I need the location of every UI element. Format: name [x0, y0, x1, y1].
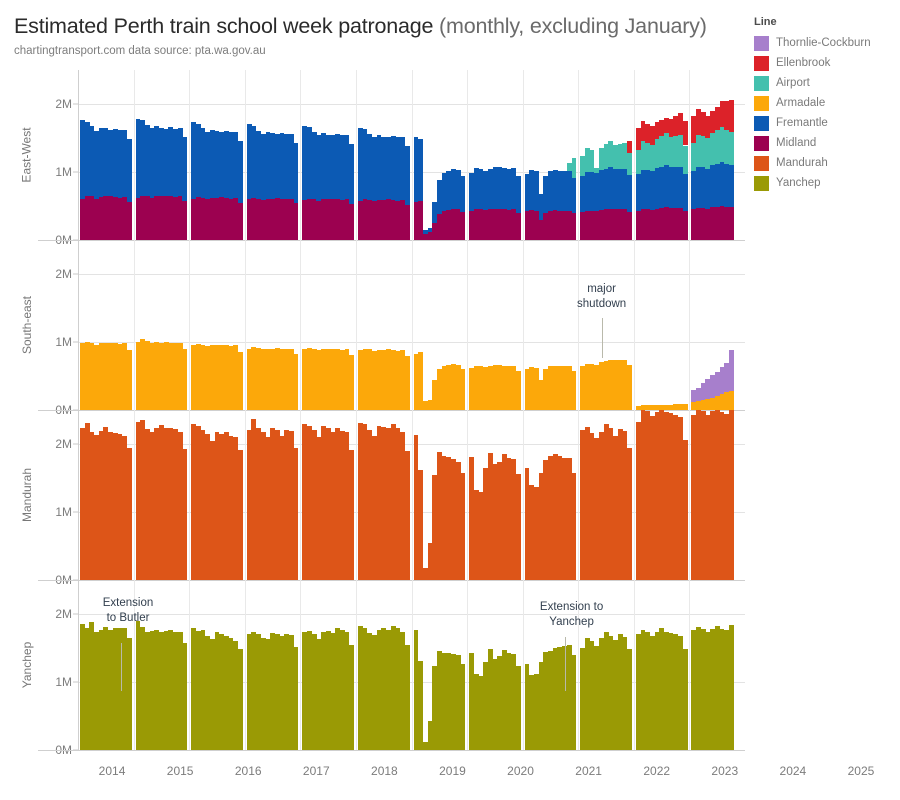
- gridline-vertical: [245, 410, 246, 580]
- bar[interactable]: [127, 139, 132, 240]
- bar[interactable]: [294, 448, 299, 580]
- legend-item-label: Armadale: [776, 97, 825, 109]
- bar-segment-midland: [182, 201, 187, 240]
- legend-swatch-icon: [754, 56, 769, 71]
- bar-segment-yanchep: [729, 625, 734, 750]
- bar[interactable]: [238, 352, 243, 410]
- chart-root: Estimated Perth train school week patron…: [0, 0, 900, 800]
- gridline-vertical: [189, 240, 190, 410]
- bar-segment-mandurah: [729, 410, 734, 580]
- y-axis-tick-label: 1M: [55, 165, 72, 179]
- y-axis-tick-label: 2M: [55, 97, 72, 111]
- gridline-vertical: [300, 70, 301, 240]
- bar-segment-yanchep: [627, 649, 632, 750]
- annotation-leader-line: [121, 643, 122, 691]
- annotation-line: shutdown: [577, 297, 626, 312]
- bar[interactable]: [238, 450, 243, 580]
- bar-segment-yanchep: [418, 661, 423, 750]
- gridline-vertical: [467, 410, 468, 580]
- legend-item-label: Yanchep: [776, 177, 821, 189]
- bar-segment-mandurah: [627, 448, 632, 580]
- facet-label: Mandurah: [16, 410, 38, 580]
- legend-item-label: Ellenbrook: [776, 57, 830, 69]
- bar[interactable]: [294, 647, 299, 750]
- bar-segment-armadale: [627, 365, 632, 410]
- x-axis-tick-label: 2014: [99, 764, 126, 778]
- axis-baseline: [38, 750, 745, 751]
- bar[interactable]: [405, 451, 410, 580]
- bar-segment-mandurah: [238, 450, 243, 580]
- facet-panel-south-east: South-east0M1M2M: [0, 240, 750, 410]
- bar[interactable]: [294, 354, 299, 410]
- bar[interactable]: [418, 470, 423, 580]
- bar-segment-ellenbrook: [729, 100, 734, 132]
- y-axis-tick-label: 2M: [55, 437, 72, 451]
- gridline-vertical: [467, 240, 468, 410]
- facet-label: East-West: [16, 70, 38, 240]
- bar[interactable]: [418, 139, 423, 240]
- bar-segment-armadale: [516, 371, 521, 410]
- bar[interactable]: [683, 121, 688, 240]
- annotation-leader-line: [565, 637, 566, 691]
- gridline-vertical: [689, 410, 690, 580]
- bar[interactable]: [627, 365, 632, 410]
- bar[interactable]: [516, 176, 521, 240]
- legend-item[interactable]: Thornlie-Cockburn: [754, 33, 900, 53]
- bar[interactable]: [127, 448, 132, 580]
- bar[interactable]: [349, 144, 354, 240]
- chart-title: Estimated Perth train school week patron…: [14, 14, 744, 39]
- gridline-vertical: [412, 240, 413, 410]
- gridline-vertical: [634, 410, 635, 580]
- bar-segment-yanchep: [127, 638, 132, 750]
- bar[interactable]: [683, 649, 688, 750]
- bar[interactable]: [729, 350, 734, 410]
- legend-item[interactable]: Mandurah: [754, 153, 900, 173]
- bar[interactable]: [460, 176, 465, 240]
- x-axis-tick-label: 2015: [167, 764, 194, 778]
- bar[interactable]: [460, 369, 465, 410]
- plot-area: [78, 240, 745, 410]
- x-axis-tick-label: 2023: [711, 764, 738, 778]
- gridline-vertical: [356, 580, 357, 750]
- bar[interactable]: [418, 661, 423, 750]
- gridline-vertical: [412, 410, 413, 580]
- bar-segment-mandurah: [683, 440, 688, 580]
- gridline-vertical: [523, 70, 524, 240]
- facet-panel-mandurah: Mandurah0M1M2M: [0, 410, 750, 580]
- bar[interactable]: [405, 146, 410, 240]
- bar[interactable]: [405, 356, 410, 410]
- legend: Line Thornlie-CockburnEllenbrookAirportA…: [754, 16, 900, 193]
- gridline-vertical: [523, 410, 524, 580]
- bar-segment-armadale: [460, 369, 465, 410]
- bar[interactable]: [729, 410, 734, 580]
- bar[interactable]: [182, 643, 187, 750]
- annotation-line: to Butler: [103, 611, 154, 626]
- x-axis-tick-label: 2016: [235, 764, 262, 778]
- gridline-vertical: [300, 410, 301, 580]
- bar[interactable]: [516, 474, 521, 580]
- bar-segment-midland: [683, 211, 688, 240]
- bar-segment-mandurah: [349, 450, 354, 580]
- facet-label-text: Mandurah: [20, 468, 34, 522]
- x-axis: 2014201520162017201820192020202120222023…: [78, 760, 895, 790]
- bar-segment-mandurah: [460, 473, 465, 580]
- bar-segment-ellenbrook: [627, 141, 632, 153]
- facet-label-text: South-east: [20, 296, 34, 354]
- bar-segment-yanchep: [460, 664, 465, 750]
- bar-segment-armadale: [182, 349, 187, 410]
- bar[interactable]: [238, 649, 243, 750]
- bar-segment-thornlie-cockburn: [729, 350, 734, 391]
- gridline-vertical: [134, 240, 135, 410]
- gridline-vertical: [523, 240, 524, 410]
- bar-segment-armadale: [572, 371, 577, 410]
- x-axis-tick-label: 2021: [575, 764, 602, 778]
- bar[interactable]: [405, 645, 410, 750]
- legend-swatch-icon: [754, 116, 769, 131]
- bar-segment-airport: [683, 146, 688, 175]
- bar-segment-midland: [238, 203, 243, 240]
- axis-left-spine: [78, 70, 79, 240]
- gridline-vertical: [134, 70, 135, 240]
- legend-item[interactable]: Fremantle: [754, 113, 900, 133]
- chart-title-parenthetical: (monthly, excluding January): [439, 14, 707, 38]
- bar[interactable]: [182, 137, 187, 240]
- gridline-vertical: [467, 580, 468, 750]
- legend-swatch-icon: [754, 176, 769, 191]
- bar-segment-fremantle: [460, 176, 465, 212]
- gridline-vertical: [634, 580, 635, 750]
- bar[interactable]: [182, 449, 187, 580]
- legend-item-label: Mandurah: [776, 157, 828, 169]
- bar-segment-mandurah: [418, 470, 423, 580]
- annotation-major-shutdown: majorshutdown: [577, 282, 626, 312]
- gridline-vertical: [689, 70, 690, 240]
- annotation-line: Extension to: [540, 600, 603, 615]
- bar-segment-mandurah: [405, 451, 410, 580]
- x-axis-tick-label: 2018: [371, 764, 398, 778]
- plot-area: [78, 410, 745, 580]
- x-axis-tick-label: 2022: [643, 764, 670, 778]
- legend-swatch-icon: [754, 36, 769, 51]
- bar-segment-fremantle: [683, 174, 688, 211]
- bar-segment-midland: [405, 205, 410, 240]
- facet-panels: East-West0M1M2MSouth-east0M1M2MMandurah0…: [0, 70, 750, 750]
- legend-swatch-icon: [754, 96, 769, 111]
- bar-segment-yanchep: [349, 645, 354, 750]
- bar-segment-armadale: [127, 350, 132, 410]
- bar[interactable]: [516, 666, 521, 750]
- bar[interactable]: [294, 143, 299, 240]
- gridline-vertical: [134, 410, 135, 580]
- bar[interactable]: [729, 100, 734, 240]
- chart-header: Estimated Perth train school week patron…: [14, 14, 744, 57]
- annotation-leader-line: [602, 318, 603, 358]
- bar-segment-midland: [294, 203, 299, 240]
- annotation-line: major: [577, 282, 626, 297]
- bar-segment-armadale: [294, 354, 299, 410]
- gridline-vertical: [300, 580, 301, 750]
- plot-area: [78, 70, 745, 240]
- gridline-vertical: [578, 410, 579, 580]
- legend-title: Line: [754, 16, 900, 28]
- gridline-vertical: [412, 70, 413, 240]
- axis-left-spine: [78, 240, 79, 410]
- x-axis-tick-label: 2025: [848, 764, 875, 778]
- legend-swatch-icon: [754, 136, 769, 151]
- x-axis-tick-label: 2019: [439, 764, 466, 778]
- gridline-vertical: [467, 70, 468, 240]
- bar[interactable]: [460, 664, 465, 750]
- bar[interactable]: [572, 473, 577, 580]
- bar-segment-midland: [627, 212, 632, 240]
- chart-title-main: Estimated Perth train school week patron…: [14, 14, 433, 38]
- facet-label-text: Yanchep: [20, 642, 34, 688]
- bar-segment-fremantle: [238, 141, 243, 203]
- bar-segment-yanchep: [516, 666, 521, 750]
- bar-segment-armadale: [349, 355, 354, 410]
- legend-item[interactable]: Yanchep: [754, 173, 900, 193]
- bar[interactable]: [572, 158, 577, 240]
- annotation-extension-to-yanchep: Extension toYanchep: [540, 600, 603, 630]
- bar[interactable]: [349, 645, 354, 750]
- gridline-vertical: [189, 70, 190, 240]
- facet-label: South-east: [16, 240, 38, 410]
- gridline-vertical: [245, 240, 246, 410]
- bar-segment-fremantle: [627, 175, 632, 212]
- gridline-vertical: [245, 580, 246, 750]
- bar[interactable]: [683, 440, 688, 580]
- facet-panel-east-west: East-West0M1M2M: [0, 70, 750, 240]
- bar-segment-mandurah: [294, 448, 299, 580]
- bar-segment-mandurah: [516, 474, 521, 580]
- x-axis-tick-label: 2017: [303, 764, 330, 778]
- y-axis: 0M1M2M: [38, 580, 78, 750]
- bar-segment-yanchep: [238, 649, 243, 750]
- annotation-line: Extension: [103, 596, 154, 611]
- gridline-vertical: [578, 240, 579, 410]
- legend-item[interactable]: Armadale: [754, 93, 900, 113]
- bar-segment-ellenbrook: [683, 121, 688, 145]
- legend-item-label: Fremantle: [776, 117, 828, 129]
- bar[interactable]: [460, 473, 465, 580]
- bar[interactable]: [729, 625, 734, 750]
- bar[interactable]: [349, 355, 354, 410]
- plot-area: [78, 580, 745, 750]
- bar-segment-midland: [572, 213, 577, 240]
- gridline-vertical: [189, 410, 190, 580]
- bar-segment-yanchep: [182, 643, 187, 750]
- gridline-vertical: [189, 580, 190, 750]
- facet-label: Yanchep: [16, 580, 38, 750]
- x-axis-tick-label: 2024: [780, 764, 807, 778]
- bar-segment-midland: [349, 204, 354, 240]
- y-axis-tick-label: 1M: [55, 335, 72, 349]
- bar-segment-armadale: [729, 391, 734, 410]
- y-axis-tick-label: 1M: [55, 505, 72, 519]
- bar-segment-midland: [516, 213, 521, 240]
- bar[interactable]: [182, 349, 187, 410]
- legend-item-label: Thornlie-Cockburn: [776, 37, 871, 49]
- gridline-vertical: [689, 580, 690, 750]
- y-axis-tick-label: 2M: [55, 267, 72, 281]
- legend-item[interactable]: Midland: [754, 133, 900, 153]
- bar[interactable]: [127, 638, 132, 750]
- bar[interactable]: [627, 649, 632, 750]
- bar-segment-armadale: [238, 352, 243, 410]
- bar-segment-fremantle: [349, 144, 354, 204]
- bar[interactable]: [627, 448, 632, 580]
- bar-segment-airport: [729, 132, 734, 165]
- bar-segment-yanchep: [405, 645, 410, 750]
- bar[interactable]: [572, 655, 577, 750]
- legend-item[interactable]: Ellenbrook: [754, 53, 900, 73]
- y-axis-tick-label: 2M: [55, 607, 72, 621]
- gridline-vertical: [523, 580, 524, 750]
- bar[interactable]: [349, 450, 354, 580]
- bar-segment-yanchep: [683, 649, 688, 750]
- bar-segment-fremantle: [418, 139, 423, 201]
- legend-item[interactable]: Airport: [754, 73, 900, 93]
- legend-swatch-icon: [754, 76, 769, 91]
- legend-swatch-icon: [754, 156, 769, 171]
- axis-left-spine: [78, 410, 79, 580]
- bar[interactable]: [238, 141, 243, 240]
- legend-item-label: Midland: [776, 137, 816, 149]
- gridline-vertical: [245, 70, 246, 240]
- y-axis-tick-label: 1M: [55, 675, 72, 689]
- gridline-vertical: [412, 580, 413, 750]
- annotation-line: Yanchep: [540, 615, 603, 630]
- legend-item-label: Airport: [776, 77, 810, 89]
- gridline-vertical: [578, 70, 579, 240]
- bar-segment-airport: [572, 158, 577, 178]
- bar-segment-mandurah: [572, 473, 577, 580]
- bar-segment-fremantle: [729, 165, 734, 207]
- legend-items: Thornlie-CockburnEllenbrookAirportArmada…: [754, 33, 900, 193]
- bar-segment-fremantle: [516, 176, 521, 213]
- bar[interactable]: [127, 350, 132, 410]
- bar-segment-fremantle: [182, 137, 187, 201]
- bar-segment-mandurah: [182, 449, 187, 580]
- facet-label-text: East-West: [20, 127, 34, 182]
- bar-segment-mandurah: [127, 448, 132, 580]
- bar[interactable]: [516, 371, 521, 410]
- bar-segment-midland: [127, 202, 132, 240]
- bar-segment-yanchep: [294, 647, 299, 750]
- bar-segment-fremantle: [127, 139, 132, 202]
- chart-subtitle: chartingtransport.com data source: pta.w…: [14, 45, 744, 57]
- bar-segment-airport: [627, 153, 632, 175]
- bar-segment-midland: [460, 212, 465, 240]
- bar-segment-yanchep: [572, 655, 577, 750]
- gridline-vertical: [634, 240, 635, 410]
- annotation-extension-to-butler: Extensionto Butler: [103, 596, 154, 626]
- gridline-vertical: [634, 70, 635, 240]
- bar-segment-midland: [729, 207, 734, 240]
- gridline-vertical: [356, 240, 357, 410]
- bar[interactable]: [627, 141, 632, 240]
- bar[interactable]: [572, 371, 577, 410]
- bar-segment-fremantle: [405, 146, 410, 204]
- gridline-vertical: [356, 70, 357, 240]
- x-axis-tick-label: 2020: [507, 764, 534, 778]
- y-axis: 0M1M2M: [38, 410, 78, 580]
- y-axis: 0M1M2M: [38, 70, 78, 240]
- bar-segment-armadale: [405, 356, 410, 410]
- bar-segment-fremantle: [294, 143, 299, 204]
- bar-segment-fremantle: [572, 178, 577, 213]
- gridline-vertical: [356, 410, 357, 580]
- axis-left-spine: [78, 580, 79, 750]
- gridline-vertical: [300, 240, 301, 410]
- y-axis: 0M1M2M: [38, 240, 78, 410]
- gridline-vertical: [689, 240, 690, 410]
